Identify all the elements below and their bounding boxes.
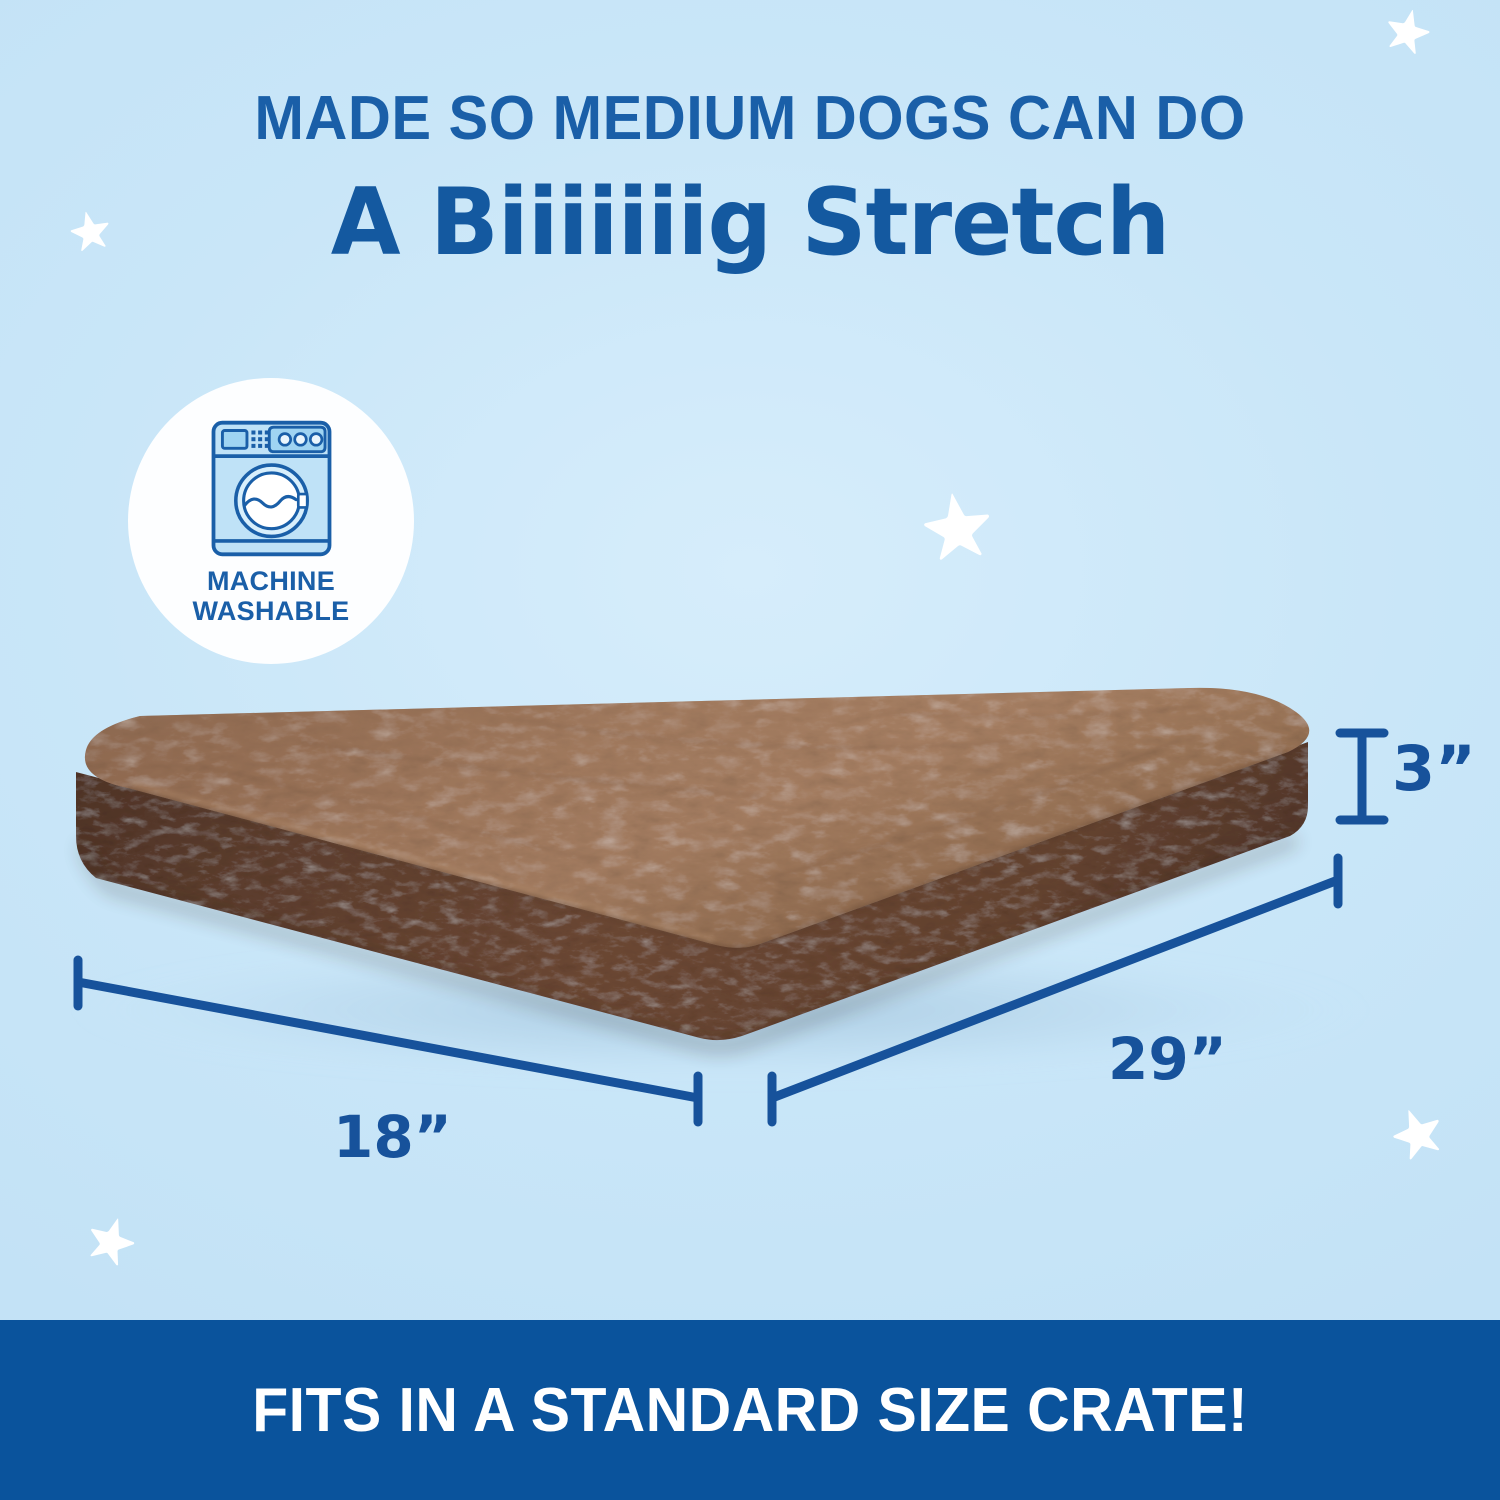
headline-line-2: A Biiiiiiig Stretch [23, 176, 1478, 269]
badge-line-2: WASHABLE [193, 597, 350, 627]
bottom-banner-text: FITS IN A STANDARD SIZE CRATE! [252, 1375, 1248, 1446]
dimension-label-depth: 18” [333, 1108, 452, 1166]
bottom-banner: FITS IN A STANDARD SIZE CRATE! [0, 1320, 1500, 1500]
headline-line-1: MADE SO MEDIUM DOGS CAN DO [30, 88, 1470, 150]
dimension-label-width: 29” [1108, 1030, 1227, 1088]
machine-washable-badge: MACHINE WASHABLE [128, 378, 414, 664]
dimension-label-height: 3” [1392, 738, 1476, 800]
badge-line-1: MACHINE [193, 567, 350, 597]
machine-washable-label: MACHINE WASHABLE [193, 567, 350, 626]
washing-machine-icon [204, 416, 339, 561]
star-center [919, 487, 996, 564]
headline: MADE SO MEDIUM DOGS CAN DO A Biiiiiiig S… [0, 88, 1500, 269]
product-infographic: MADE SO MEDIUM DOGS CAN DO A Biiiiiiig S… [0, 0, 1500, 1500]
